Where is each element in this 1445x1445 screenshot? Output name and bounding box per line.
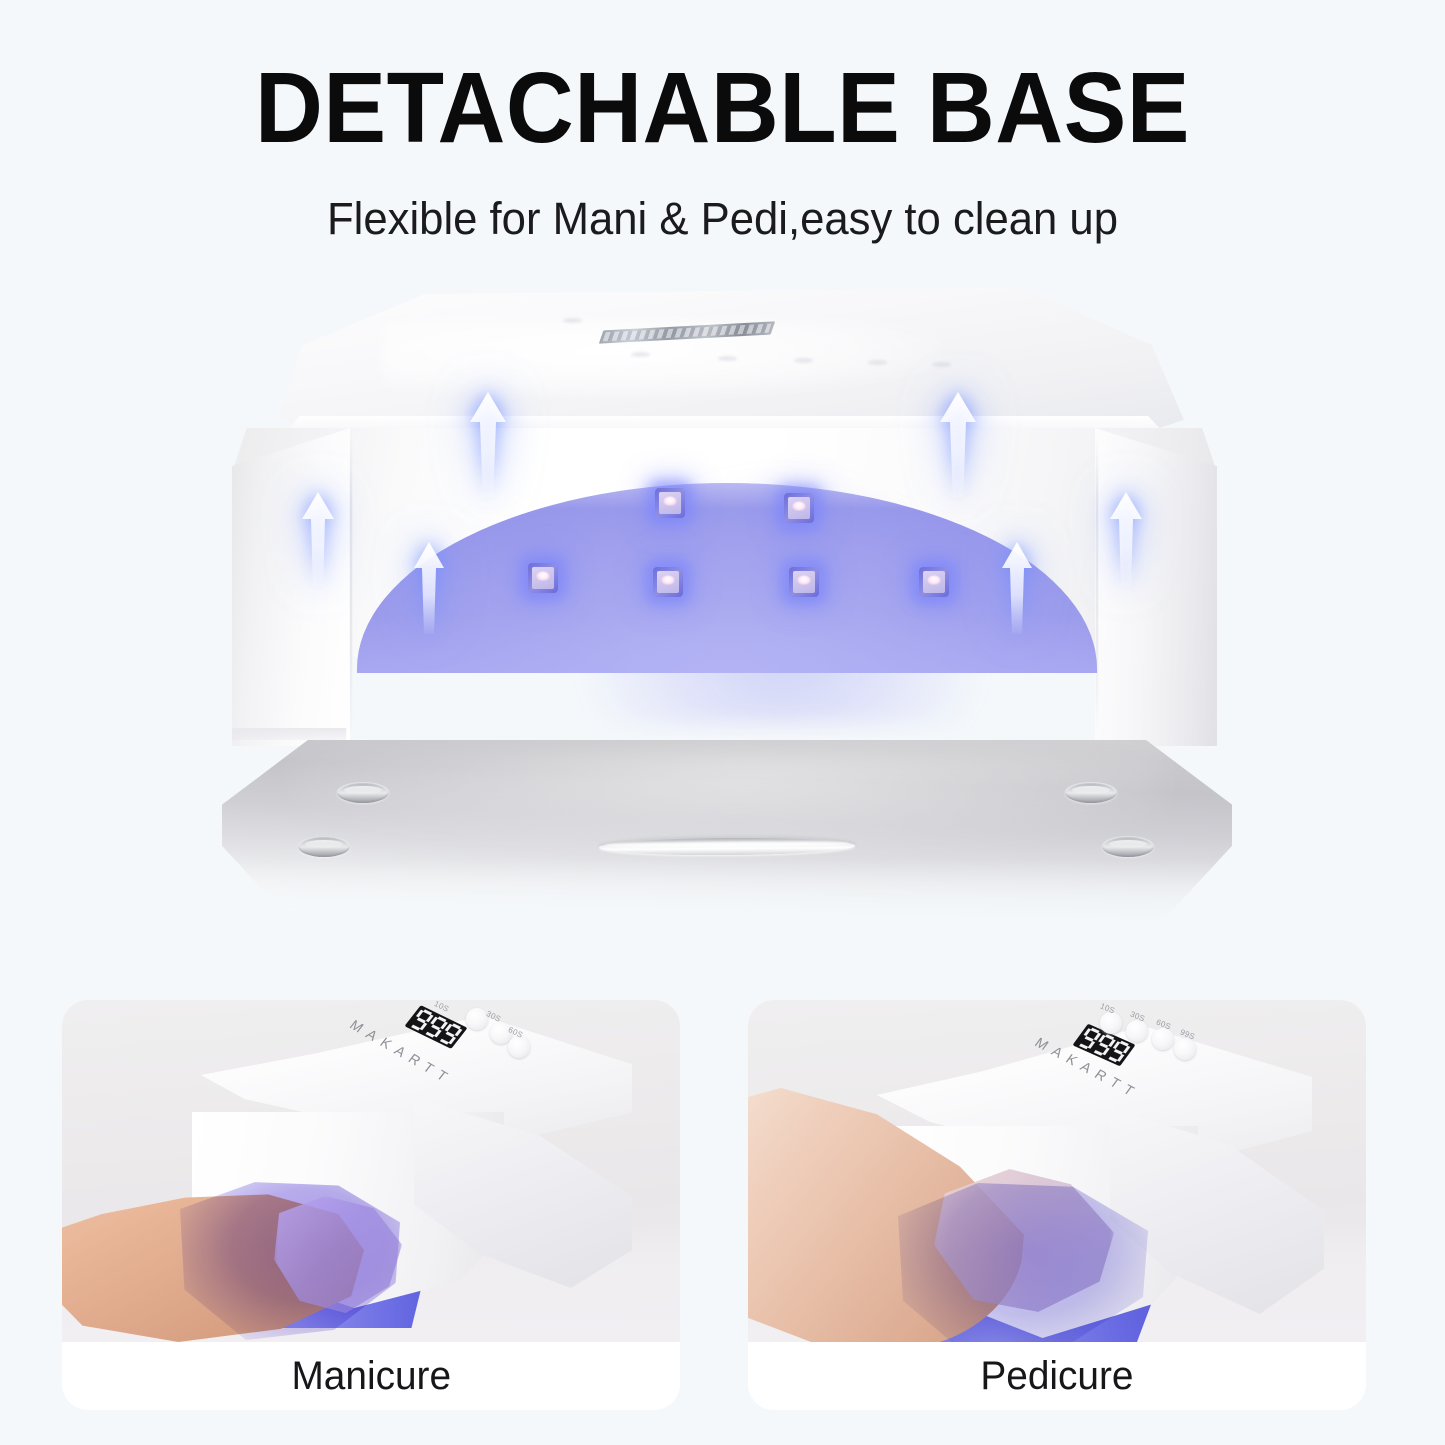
header: DETACHABLE BASE Flexible for Mani & Pedi… — [0, 0, 1445, 241]
uv-led-r2-1 — [528, 563, 558, 593]
timer-button-30s[interactable] — [631, 352, 650, 357]
timer-button-10s-pedicure[interactable] — [1100, 1012, 1122, 1034]
power-button[interactable] — [868, 360, 887, 365]
timer-button-30s-pedicure[interactable] — [1126, 1020, 1148, 1042]
lamp-crease-left — [350, 434, 352, 734]
detach-arrow-1 — [468, 392, 508, 500]
card-pedicure[interactable]: MAKARTT 10S 30S 60S 99S Pedicure — [748, 1000, 1366, 1410]
lamp-crease-right — [1096, 434, 1098, 734]
detach-arrow-3 — [300, 492, 336, 588]
timer-button-10s[interactable] — [563, 318, 582, 323]
detachable-base-plate[interactable] — [222, 740, 1232, 950]
caption-pedicure: Pedicure — [980, 1356, 1133, 1396]
page-subtitle: Flexible for Mani & Pedi,easy to clean u… — [22, 196, 1424, 241]
card-manicure[interactable]: MAKARTT 10S 30S 60S Manicure — [62, 1000, 680, 1410]
base-foot-front-right — [1102, 836, 1154, 857]
detach-arrow-6 — [1000, 542, 1034, 634]
uv-led-r2-3 — [789, 567, 819, 597]
hero-product-illustration — [0, 270, 1445, 970]
detach-arrow-4 — [1108, 492, 1144, 588]
cavity-inner-shade — [357, 615, 1097, 673]
base-plate-fade — [222, 860, 1232, 950]
timer-button-60s-pedicure[interactable] — [1152, 1028, 1174, 1050]
button-label-10s-pedicure: 10S — [1099, 1001, 1116, 1015]
manicure-photo: MAKARTT 10S 30S 60S — [62, 1000, 680, 1342]
caption-strip-manicure: Manicure — [62, 1342, 680, 1410]
uv-led-r1-1 — [655, 488, 685, 518]
nail-lamp-upper-body — [232, 288, 1217, 748]
pedicure-photo: MAKARTT 10S 30S 60S 99S — [748, 1000, 1366, 1342]
page-title: DETACHABLE BASE — [43, 58, 1401, 158]
base-foot-front-left — [298, 836, 350, 857]
caption-strip-pedicure: Pedicure — [748, 1342, 1366, 1410]
base-foot-back-left — [337, 782, 389, 803]
uv-led-r2-2 — [653, 567, 683, 597]
base-plate-highlight — [292, 748, 1162, 844]
uv-led-r1-2 — [784, 493, 814, 523]
timer-button-60s[interactable] — [718, 356, 737, 361]
caption-manicure: Manicure — [291, 1356, 451, 1396]
timer-button-99s[interactable] — [794, 358, 813, 363]
base-foot-back-right — [1065, 782, 1117, 803]
uv-led-r2-4 — [919, 567, 949, 597]
timer-button-10s-manicure[interactable] — [466, 1008, 488, 1030]
mode-button[interactable] — [932, 362, 951, 367]
detach-arrow-5 — [412, 542, 446, 634]
detach-arrow-2 — [938, 392, 978, 500]
usage-cards: MAKARTT 10S 30S 60S Manicure — [0, 1000, 1445, 1420]
